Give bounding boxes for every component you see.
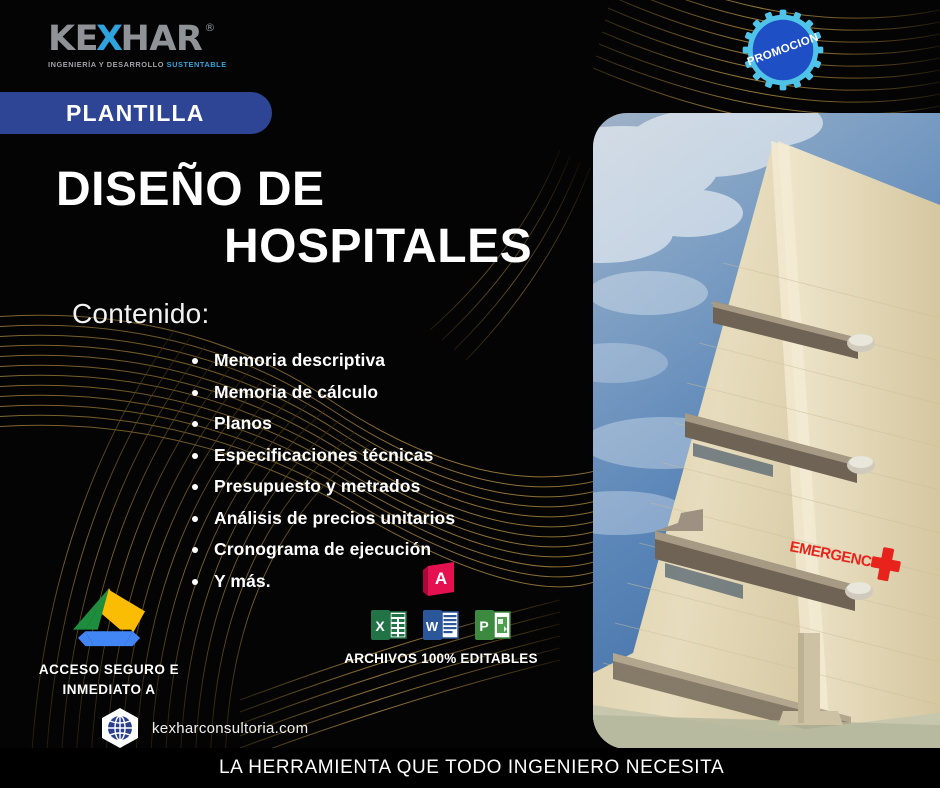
autocad-icon: A bbox=[423, 562, 459, 600]
plantilla-label: PLANTILLA bbox=[66, 100, 205, 127]
logo-tagline-highlight: SUSTENTABLE bbox=[167, 60, 227, 69]
list-item: Memoria descriptiva bbox=[192, 352, 455, 370]
logo-wordmark: KEXHAR® bbox=[48, 22, 248, 57]
logo-tagline-main: INGENIERÍA Y DESARROLLO bbox=[48, 60, 167, 69]
registered-trademark-icon: ® bbox=[204, 22, 215, 33]
page-title: DISEÑO DE HOSPITALES bbox=[56, 162, 576, 275]
editable-files-block: A X W bbox=[344, 562, 538, 666]
logo-text-ke: KE bbox=[48, 22, 98, 57]
list-item: Memoria de cálculo bbox=[192, 384, 455, 402]
svg-text:P: P bbox=[479, 618, 488, 634]
footer-banner: LA HERRAMIENTA QUE TODO INGENIERO NECESI… bbox=[0, 748, 940, 788]
promotional-flyer: KEXHAR® INGENIERÍA Y DESARROLLO SUSTENTA… bbox=[0, 0, 940, 788]
list-item: Especificaciones técnicas bbox=[192, 447, 455, 465]
word-icon: W bbox=[422, 606, 460, 644]
logo-text-har: HAR bbox=[121, 22, 203, 57]
powerpoint-icon: P bbox=[474, 606, 512, 644]
hospital-photo: EMERGENCY bbox=[593, 113, 940, 749]
list-item: Análisis de precios unitarios bbox=[192, 510, 455, 528]
svg-text:W: W bbox=[426, 619, 439, 634]
files-caption: ARCHIVOS 100% EDITABLES bbox=[344, 651, 538, 666]
excel-icon: X bbox=[370, 606, 408, 644]
footer-tagline: LA HERRAMIENTA QUE TODO INGENIERO NECESI… bbox=[219, 757, 724, 779]
globe-icon bbox=[100, 707, 140, 749]
plantilla-badge: PLANTILLA bbox=[0, 92, 272, 134]
brand-logo: KEXHAR® INGENIERÍA Y DESARROLLO SUSTENTA… bbox=[48, 22, 248, 69]
website-row[interactable]: kexharconsultoria.com bbox=[100, 707, 308, 749]
title-line-1: DISEÑO DE bbox=[56, 162, 576, 219]
promocion-badge: PROMOCION bbox=[741, 8, 825, 92]
list-item: Cronograma de ejecución bbox=[192, 541, 455, 559]
list-item: Presupuesto y metrados bbox=[192, 478, 455, 496]
drive-caption: ACCESO SEGURO E INMEDIATO A bbox=[26, 660, 192, 699]
list-item: Planos bbox=[192, 415, 455, 433]
google-drive-icon bbox=[73, 586, 145, 650]
svg-text:A: A bbox=[435, 569, 447, 588]
logo-x-glyph: X bbox=[96, 22, 123, 57]
svg-text:X: X bbox=[375, 618, 385, 634]
drive-access-block: ACCESO SEGURO E INMEDIATO A bbox=[26, 586, 192, 699]
logo-tagline: INGENIERÍA Y DESARROLLO SUSTENTABLE bbox=[48, 60, 248, 69]
office-icons-row: X W bbox=[344, 606, 538, 644]
title-line-2: HOSPITALES bbox=[56, 219, 576, 276]
website-url[interactable]: kexharconsultoria.com bbox=[152, 720, 308, 737]
content-heading: Contenido: bbox=[72, 298, 209, 330]
